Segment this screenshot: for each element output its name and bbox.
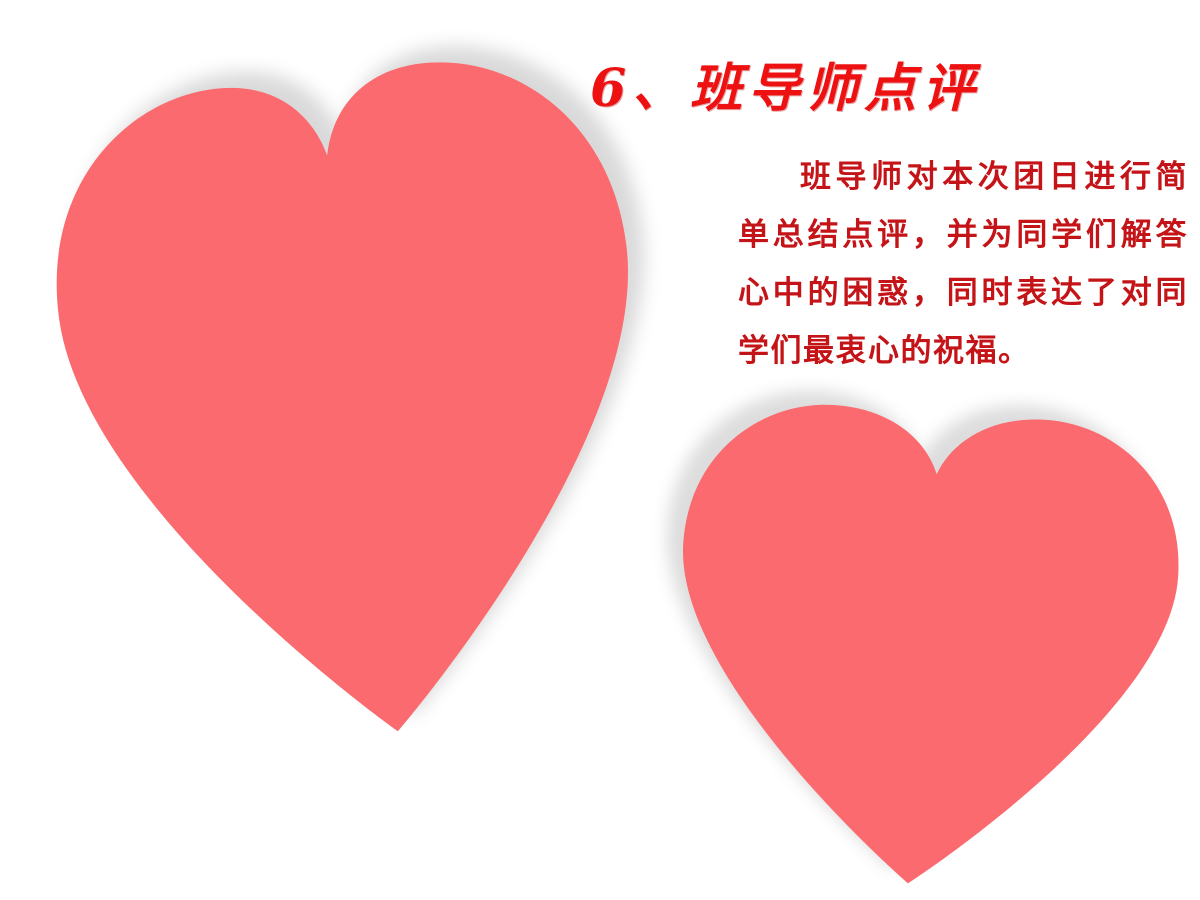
podium-stem <box>274 559 323 660</box>
door-panel <box>179 322 272 571</box>
slide-canvas: 6、班导师点评 班导师对本次团日进行简单总结点评，并为同学们解答心中的困惑，同时… <box>0 0 1200 900</box>
slide-body-paragraph: 班导师对本次团日进行简单总结点评，并为同学们解答心中的困惑，同时表达了对同学们最… <box>738 148 1188 380</box>
teacher-red-top <box>863 663 951 863</box>
classroom-wall <box>70 189 670 728</box>
projection-screen <box>368 374 613 619</box>
seated-student-2-hair <box>126 620 217 728</box>
seated-student-3-hair <box>211 607 313 728</box>
teacher-portrait-heart-photo <box>650 378 1170 878</box>
slide-title: 6、班导师点评 <box>590 46 1010 121</box>
coat-lapel-right <box>908 644 1021 841</box>
hanging-navy-jacket <box>339 637 467 728</box>
standing-student-female <box>490 475 538 618</box>
speaker-hair-strand <box>324 413 338 452</box>
necklace-pendant <box>898 698 916 720</box>
teacher-eye-right <box>912 547 944 559</box>
standing-teacher-legs <box>458 615 492 700</box>
coat-lapel-left <box>802 644 920 842</box>
teacher-face <box>822 488 968 648</box>
coat-button-1 <box>832 808 844 820</box>
podium-top <box>250 433 365 469</box>
standing-teacher-coat <box>443 447 506 632</box>
teacher-eyebrow-left <box>845 534 882 545</box>
fluorescent-light <box>243 54 401 102</box>
teacher-hair-right <box>942 501 1003 639</box>
laptop-base <box>345 605 413 631</box>
podium <box>251 445 363 592</box>
slide-cartoon-figure <box>512 460 591 610</box>
ceiling-grid-cross <box>70 28 670 241</box>
standing-teacher-hair <box>454 401 487 436</box>
laptop-screen <box>349 549 404 613</box>
seated-student-1-body <box>117 596 245 728</box>
seated-student-4-body <box>264 633 404 728</box>
teacher-eye-left <box>847 549 879 561</box>
desk-frame-1 <box>418 602 440 693</box>
door-notice-paper <box>533 461 572 527</box>
teacher-beige-coat <box>733 658 1097 878</box>
teacher-hair <box>790 468 998 633</box>
desk-row-1 <box>201 557 455 623</box>
teacher-neck <box>863 633 931 678</box>
teacher-pointing-finger <box>843 734 878 762</box>
teacher-teeth <box>879 608 915 615</box>
teacher-left-hand <box>800 741 863 800</box>
necklace-chain <box>903 673 911 703</box>
portrait-heart-mask <box>650 378 1170 878</box>
classroom-heart-photo <box>70 28 670 728</box>
standing-teacher-head <box>456 409 485 455</box>
teacher-hair-left <box>783 507 839 640</box>
desk-frame-3 <box>306 644 323 722</box>
standing-student-male-hair <box>428 398 456 425</box>
fluorescent-light-secondary <box>339 86 437 122</box>
classroom-scene <box>70 28 670 728</box>
seated-student-4-hair <box>289 557 374 660</box>
desk-frame-2 <box>449 616 468 693</box>
wooden-door-left <box>169 305 278 584</box>
standing-student-female-head <box>502 437 527 477</box>
teacher-right-hand <box>1024 698 1082 758</box>
ceiling <box>70 28 670 241</box>
desk-row-3 <box>153 647 395 708</box>
teacher-right-arm <box>997 703 1093 814</box>
seated-student-1-hair <box>143 529 218 626</box>
coat-button-2 <box>967 793 979 805</box>
teacher-mouth <box>874 606 921 623</box>
ceiling-grid <box>70 28 670 241</box>
teacher-nose <box>884 568 905 593</box>
speaker-blue-jacket <box>312 450 377 566</box>
teacher-hair-fringe <box>803 464 987 557</box>
wooden-door-right <box>510 399 662 651</box>
desk-row-2 <box>333 603 563 674</box>
standing-student-male <box>417 447 464 603</box>
slide-header-band <box>382 374 612 413</box>
standing-student-male-head <box>429 405 454 445</box>
seated-student-3-body <box>188 689 349 728</box>
background-door-edge <box>650 378 712 498</box>
chair-frame <box>413 665 515 728</box>
teacher-portrait-scene <box>650 378 1170 878</box>
classroom-heart-mask <box>70 28 670 728</box>
standing-teacher-red-top <box>459 458 484 557</box>
speaker-hair <box>326 399 359 433</box>
standing-student-female-hair <box>500 429 528 458</box>
slide-text-lines <box>390 427 512 486</box>
speaker-head <box>328 405 359 453</box>
teacher-eyebrow-right <box>910 532 947 542</box>
